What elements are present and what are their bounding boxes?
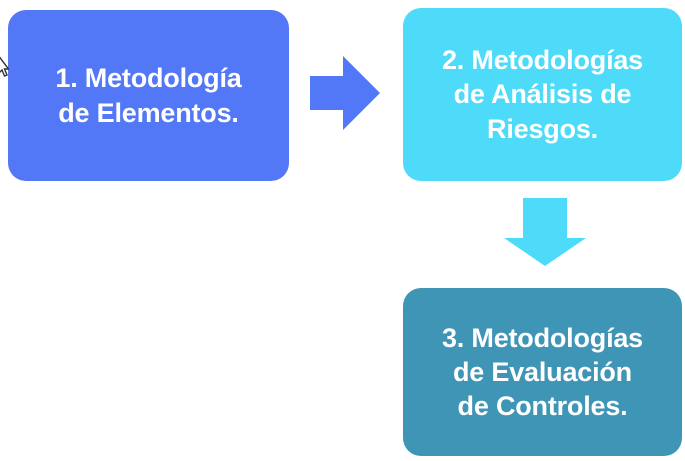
- arrow-right-icon: [310, 56, 380, 130]
- arrow-down-icon: [504, 198, 586, 266]
- flow-node-label: 1. Metodología de Elementos.: [49, 61, 247, 129]
- flow-node-label: 3. Metodologías de Evaluación de Control…: [436, 321, 649, 423]
- flow-node-metodologia-de-elementos[interactable]: 1. Metodología de Elementos.: [8, 10, 289, 181]
- flow-node-label: 2. Metodologías de Análisis de Riesgos.: [436, 43, 649, 145]
- mouse-cursor-icon: [0, 54, 9, 78]
- flowchart-canvas: 1. Metodología de Elementos. 2. Metodolo…: [0, 0, 685, 461]
- flow-node-metodologias-de-analisis-de-riesgos[interactable]: 2. Metodologías de Análisis de Riesgos.: [403, 8, 682, 181]
- flow-node-metodologias-de-evaluacion-de-controles[interactable]: 3. Metodologías de Evaluación de Control…: [403, 288, 682, 456]
